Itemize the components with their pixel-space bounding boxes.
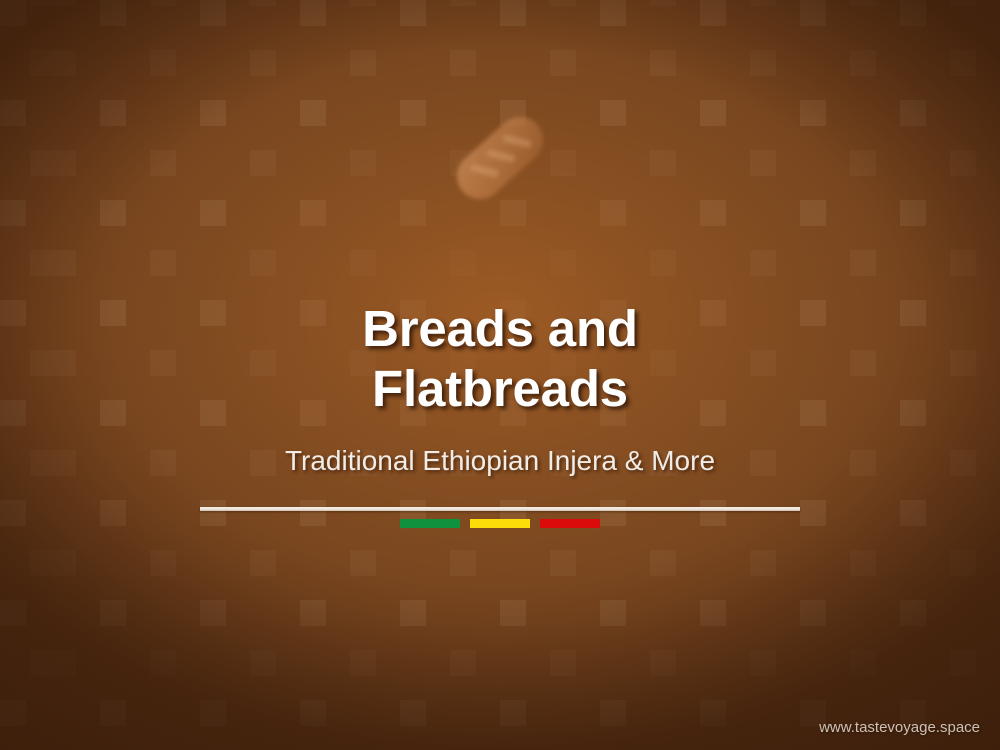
presentation-slide: Breads and Flatbreads Traditional Ethiop… [0, 0, 1000, 750]
accent-bar-red [540, 519, 600, 528]
page-title: Breads and Flatbreads [0, 299, 1000, 419]
ethiopian-flag-accent-bars [400, 519, 600, 528]
accent-bar-green [400, 519, 460, 528]
bread-loaf-icon [440, 103, 560, 213]
accent-bar-yellow [470, 519, 530, 528]
footer-website-url: www.tastevoyage.space [819, 719, 980, 736]
title-divider-rule [200, 507, 800, 511]
slide-subtitle: Traditional Ethiopian Injera & More [0, 444, 1000, 478]
